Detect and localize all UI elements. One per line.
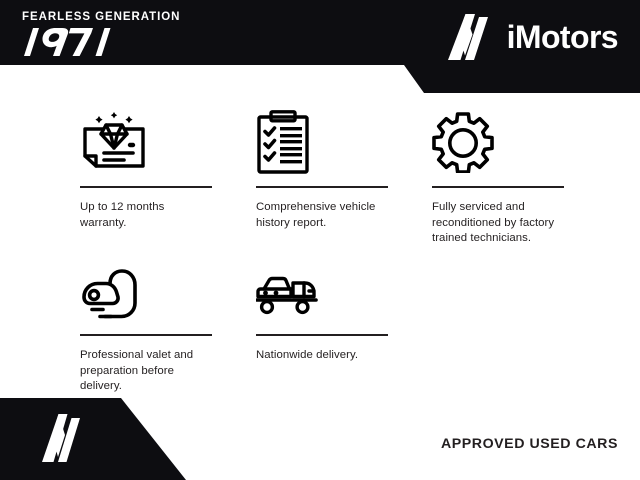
feature-item-serviced: Fully serviced and reconditioned by fact… xyxy=(432,108,564,246)
feature-row-top: Up to 12 months warranty. xyxy=(80,108,565,246)
1971-italic-logotype-icon xyxy=(22,26,114,58)
feature-caption: Fully serviced and reconditioned by fact… xyxy=(432,200,564,246)
feature-divider xyxy=(256,186,388,188)
campaign-tagline: FEARLESS GENERATION xyxy=(22,10,282,24)
header-brand: iMotors xyxy=(448,14,618,60)
feature-caption: Comprehensive vehicle history report. xyxy=(256,200,388,230)
feature-caption: Professional valet and preparation befor… xyxy=(80,348,212,394)
feature-item-warranty: Up to 12 months warranty. xyxy=(80,108,212,246)
feature-item-delivery: Nationwide delivery. xyxy=(256,266,388,394)
footer-imotors-chevron-logo-mark-icon xyxy=(42,414,88,462)
car-transporter-truck-icon xyxy=(256,266,388,324)
promo-panel: FEARLESS GENERATION xyxy=(0,0,640,480)
feature-grid: Up to 12 months warranty. xyxy=(80,108,565,394)
feature-item-valet: Professional valet and preparation befor… xyxy=(80,266,212,394)
gear-cog-icon xyxy=(432,108,564,176)
clipboard-checklist-icon xyxy=(256,108,388,176)
feature-row-bottom: Professional valet and preparation befor… xyxy=(80,266,565,394)
feature-divider xyxy=(432,186,564,188)
footer-label: APPROVED USED CARS xyxy=(441,436,618,452)
feature-caption: Up to 12 months warranty. xyxy=(80,200,212,230)
imotors-chevron-logo-mark-icon xyxy=(448,14,496,60)
feature-divider xyxy=(80,186,212,188)
feature-divider xyxy=(256,334,388,336)
vacuum-cleaner-icon xyxy=(80,266,212,324)
footer-shape xyxy=(0,398,200,480)
brand-name: iMotors xyxy=(507,20,618,54)
feature-item-history-report: Comprehensive vehicle history report. xyxy=(256,108,388,246)
feature-divider xyxy=(80,334,212,336)
feature-caption: Nationwide delivery. xyxy=(256,348,388,363)
header-campaign-logo: FEARLESS GENERATION xyxy=(22,10,282,58)
warranty-certificate-diamond-icon xyxy=(80,108,212,176)
